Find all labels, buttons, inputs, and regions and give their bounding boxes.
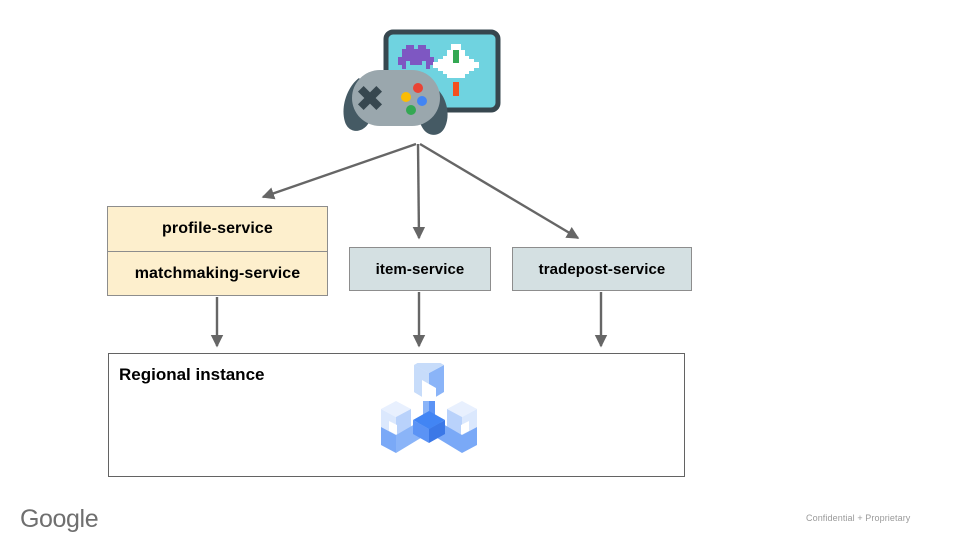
slide-canvas: profile-service matchmaking-service item… — [0, 0, 960, 540]
service-label: item-service — [376, 261, 465, 278]
service-label: tradepost-service — [539, 261, 666, 278]
connector-game-to-profile-service — [263, 144, 416, 197]
service-box-matchmaking-service[interactable]: matchmaking-service — [107, 251, 328, 296]
service-box-tradepost-service[interactable]: tradepost-service — [512, 247, 692, 291]
service-label: matchmaking-service — [135, 265, 301, 283]
confidentiality-notice: Confidential + Proprietary — [806, 513, 910, 523]
service-box-profile-service[interactable]: profile-service — [107, 206, 328, 251]
google-logo: Google — [20, 505, 98, 534]
service-box-item-service[interactable]: item-service — [349, 247, 491, 291]
service-label: profile-service — [162, 220, 273, 238]
cluster-icon — [367, 363, 491, 471]
game-controller-and-screen-icon — [338, 28, 510, 146]
regional-instance-label: Regional instance — [119, 365, 264, 385]
gamepad-icon — [343, 70, 447, 135]
connector-game-to-item-service — [418, 144, 419, 238]
regional-instance-container[interactable]: Regional instance — [108, 353, 685, 477]
connector-game-to-tradepost-service — [420, 144, 578, 238]
